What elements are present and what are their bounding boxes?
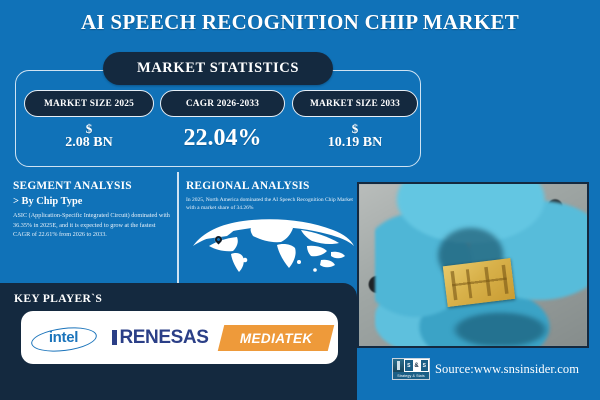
stat-column-cagr: CAGR 2026-2033 22.04%	[160, 90, 285, 151]
segment-analysis-subheading: > By Chip Type	[13, 196, 171, 207]
regional-analysis: REGIONAL ANALYSIS In 2025, North America…	[186, 180, 354, 213]
mediatek-logo: MEDIATEK	[218, 325, 334, 351]
regional-analysis-heading: REGIONAL ANALYSIS	[186, 180, 354, 192]
stat-value-market-size-2033: $ 10.19 BN	[292, 122, 418, 150]
renesas-bar-mark	[112, 330, 117, 345]
sns-logo-blocks: S & S	[404, 359, 429, 372]
page-title: AI SPEECH RECOGNITION CHIP MARKET	[0, 10, 600, 35]
stat-number: 10.19 BN	[292, 136, 418, 151]
currency-symbol: $	[24, 122, 154, 136]
sns-block-right: S	[421, 360, 429, 371]
intel-logo-label: intel	[27, 321, 99, 355]
lighthouse-icon	[393, 359, 404, 372]
sns-insider-logo: S & S Strategy & Stats	[392, 358, 430, 380]
stat-pill-market-size-2025: MARKET SIZE 2025	[24, 90, 154, 117]
sns-logo-top: S & S	[393, 359, 429, 372]
sns-ampersand: &	[414, 360, 420, 371]
mediatek-logo-label: MEDIATEK	[240, 330, 313, 345]
semiconductor-chip	[442, 258, 515, 307]
product-photo	[357, 182, 589, 348]
key-players-logo-card: intel RENESAS MEDIATEK	[21, 311, 338, 364]
stat-column-market-size-2025: MARKET SIZE 2025 $ 2.08 BN	[24, 90, 154, 150]
stat-pill-cagr: CAGR 2026-2033	[160, 90, 285, 117]
intel-logo: intel	[27, 321, 99, 355]
renesas-logo: RENESAS	[112, 327, 208, 349]
stat-number: 2.08 BN	[24, 136, 154, 151]
sns-logo-tagline: Strategy & Stats	[393, 372, 429, 379]
infographic-root: AI SPEECH RECOGNITION CHIP MARKET MARKET…	[0, 0, 600, 400]
stat-value-cagr: 22.04%	[160, 126, 285, 151]
renesas-logo-label: RENESAS	[119, 327, 208, 349]
source-text: Source:www.snsinsider.com	[435, 362, 579, 377]
regional-analysis-body: In 2025, North America dominated the AI …	[186, 196, 354, 213]
sns-block-left: S	[405, 360, 413, 371]
segment-analysis-heading: SEGMENT ANALYSIS	[13, 180, 171, 192]
segment-analysis: SEGMENT ANALYSIS > By Chip Type ASIC (Ap…	[13, 180, 171, 240]
section-divider	[177, 172, 179, 284]
source-row: S & S Strategy & Stats Source:www.snsins…	[392, 358, 579, 380]
currency-symbol: $	[292, 122, 418, 136]
world-map-globe	[181, 212, 357, 284]
segment-analysis-body: ASIC (Application-Specific Integrated Ci…	[13, 211, 171, 240]
world-map-svg	[181, 212, 357, 284]
stat-pill-market-size-2033: MARKET SIZE 2033	[292, 90, 418, 117]
market-statistics-label: MARKET STATISTICS	[103, 52, 333, 85]
stat-column-market-size-2033: MARKET SIZE 2033 $ 10.19 BN	[292, 90, 418, 150]
key-players-heading: KEY PLAYER`S	[14, 292, 102, 305]
stat-value-market-size-2025: $ 2.08 BN	[24, 122, 154, 150]
